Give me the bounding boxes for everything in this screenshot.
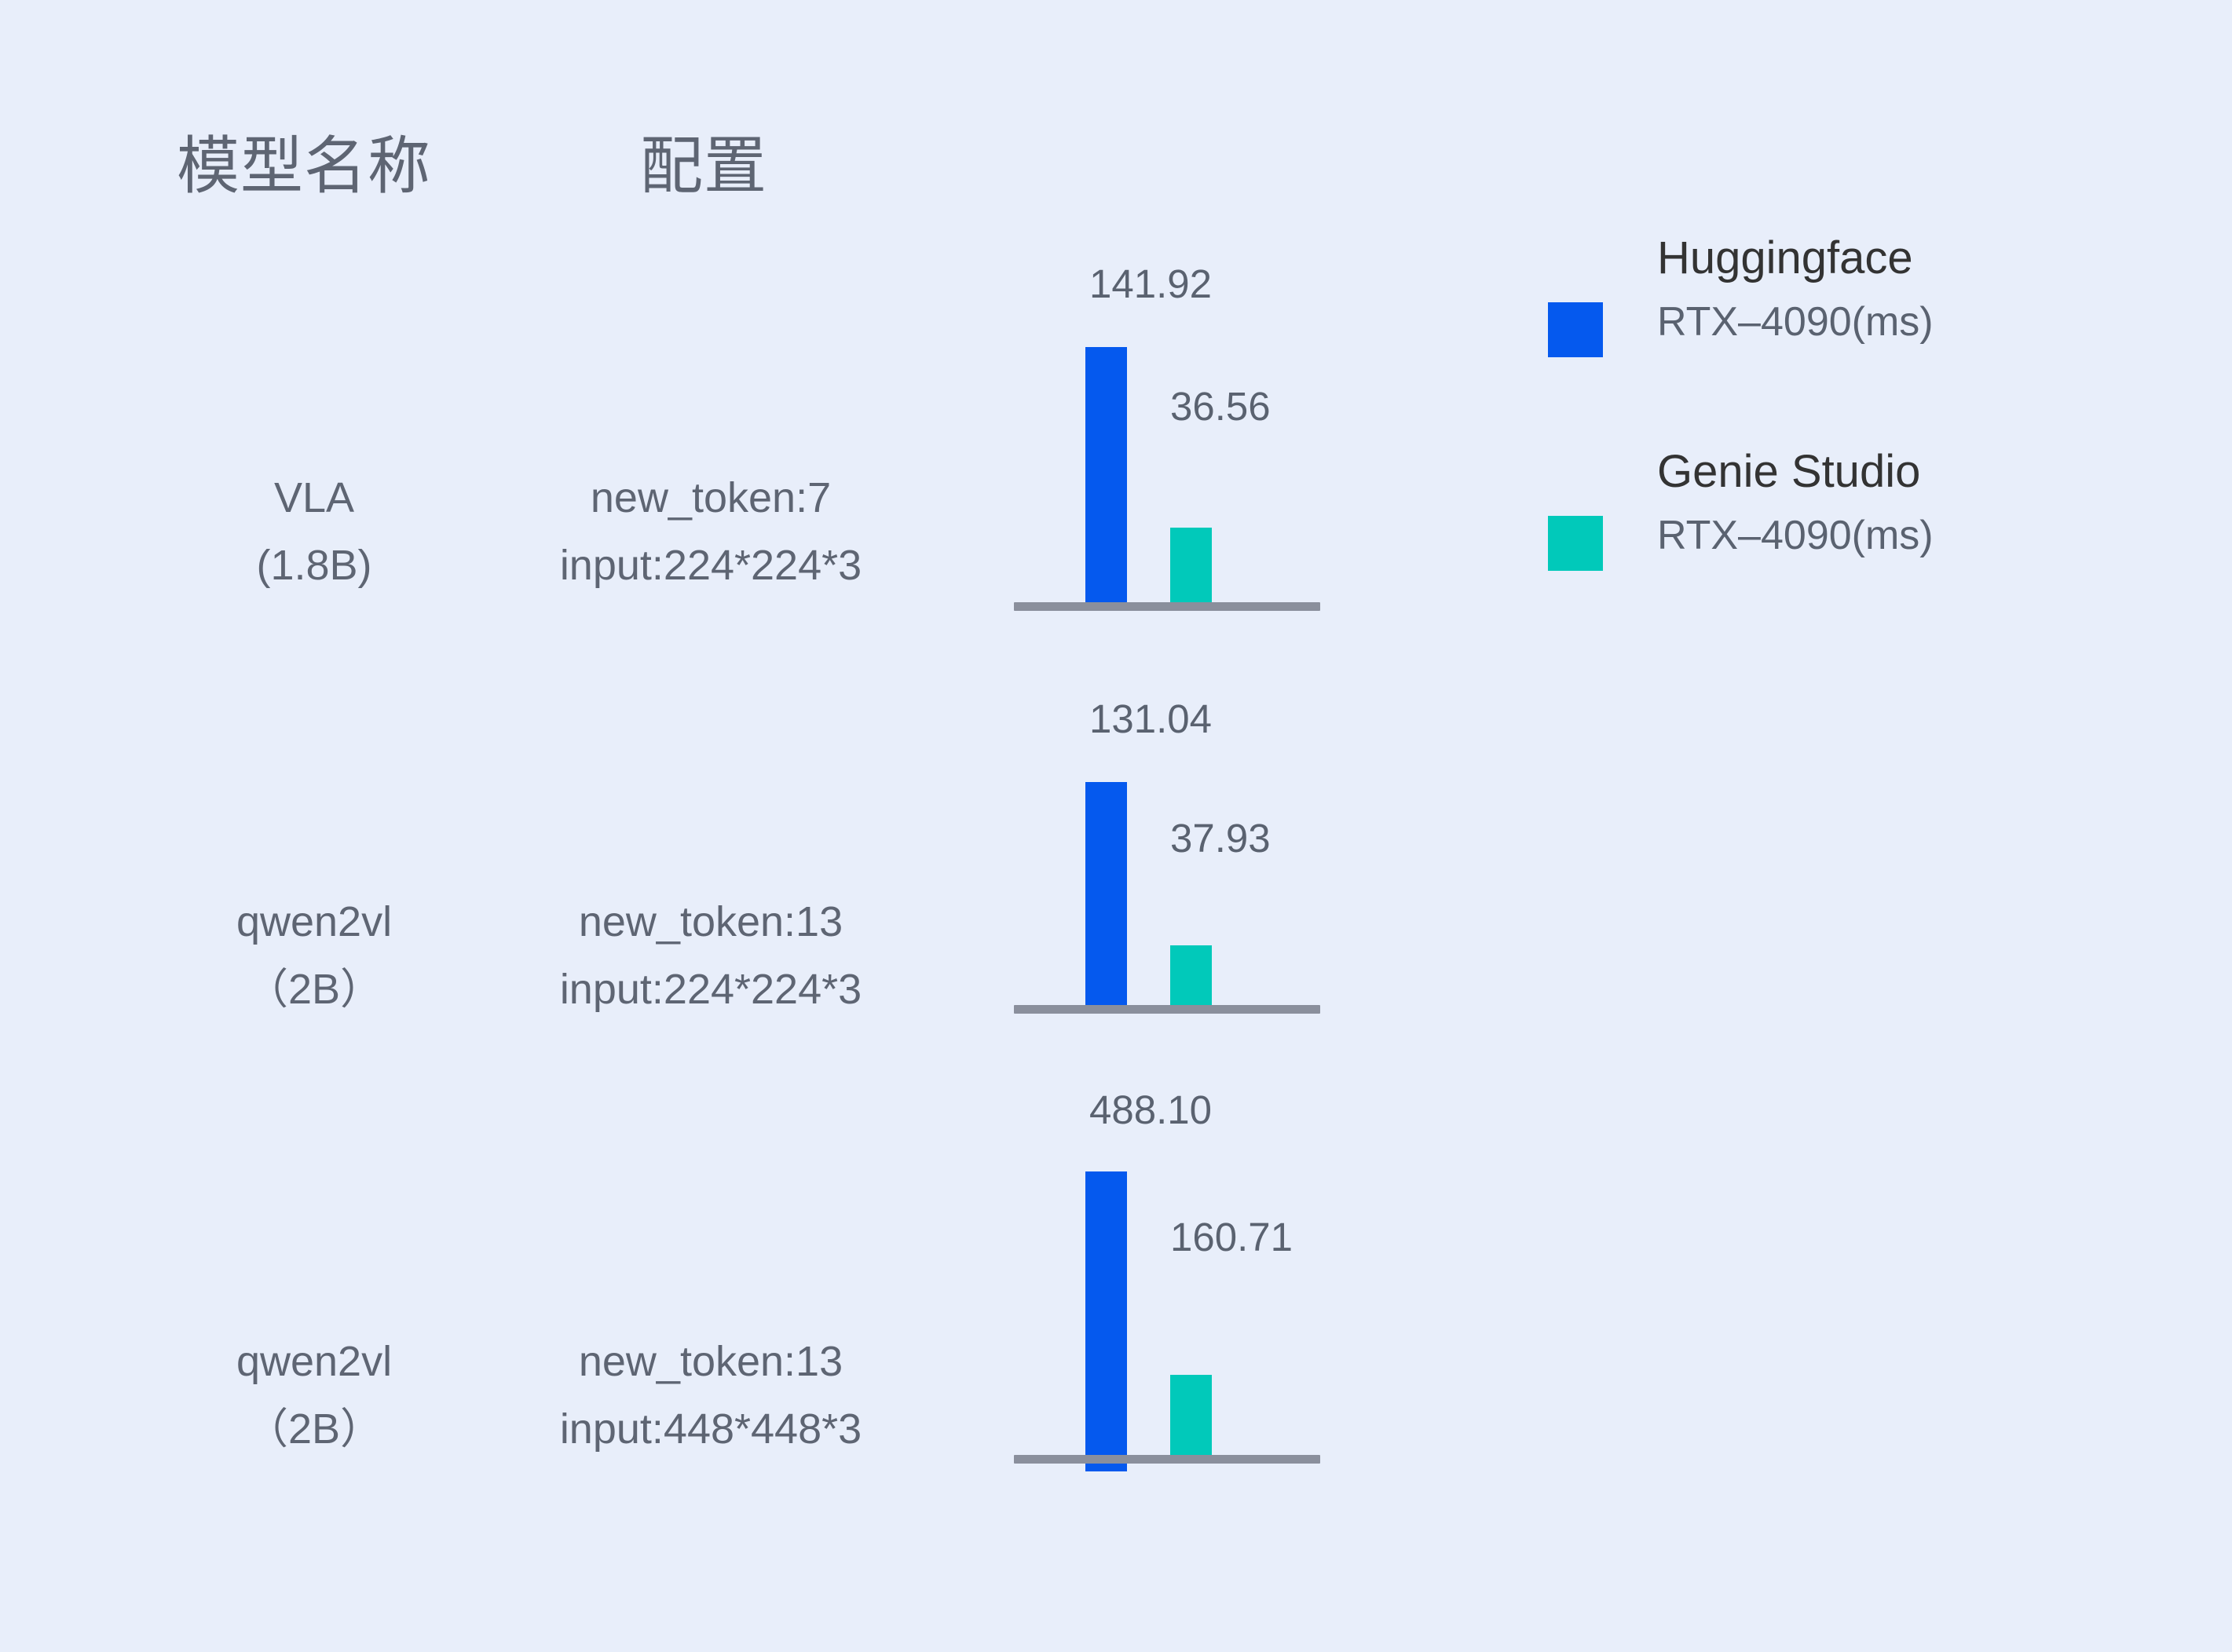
bar-value-label-genie-studio: 37.93 [1170,818,1271,858]
bar-genie-studio[interactable] [1170,1375,1212,1464]
legend-swatch-icon [1548,516,1603,571]
chart-legend: Huggingface RTX–4090(ms) Genie Studio RT… [1543,236,2093,612]
bar-value-label-huggingface: 141.92 [1089,264,1212,304]
row-config-line2: input:224*224*3 [420,956,1001,1023]
bar-genie-studio[interactable] [1170,945,1212,1005]
legend-item-subtitle: RTX–4090(ms) [1657,302,1934,342]
row-baseline [1014,602,1320,611]
row-baseline [1014,1455,1320,1464]
bar-value-label-huggingface: 488.10 [1089,1090,1212,1130]
row-baseline [1014,1005,1320,1014]
row-config-line1: new_token:13 [579,898,843,945]
bar-value-label-huggingface: 131.04 [1089,699,1212,739]
legend-item-title: Huggingface [1657,236,1913,281]
column-header-config: 配置 [640,135,767,198]
chart-canvas: 模型名称 配置 VLA (1.8B) new_token:7 input:224… [0,0,2232,1652]
row-config: new_token:7 input:224*224*3 [420,464,1001,599]
row-model-name-line1: qwen2vl [236,898,392,945]
legend-swatch-icon [1548,302,1603,357]
bar-genie-studio[interactable] [1170,528,1212,602]
bar-group-row: 488.10 160.71 [1014,1084,1320,1476]
legend-item-title: Genie Studio [1657,449,1920,495]
legend-item-subtitle: RTX–4090(ms) [1657,515,1934,556]
bar-huggingface[interactable] [1085,1171,1127,1471]
row-config-line2: input:448*448*3 [420,1395,1001,1463]
row-config-line1: new_token:7 [591,474,831,521]
bar-group-row: 131.04 37.93 [1014,652,1320,1021]
row-model-name-line1: qwen2vl [236,1338,392,1385]
bar-value-label-genie-studio: 160.71 [1170,1217,1293,1257]
bar-huggingface[interactable] [1085,347,1127,602]
row-config-line1: new_token:13 [579,1338,843,1385]
column-header-model-name: 模型名称 [177,135,431,198]
bar-value-label-genie-studio: 36.56 [1170,386,1271,426]
row-config: new_token:13 input:448*448*3 [420,1328,1001,1463]
row-model-name-line1: VLA [274,474,354,521]
row-config: new_token:13 input:224*224*3 [420,888,1001,1023]
bar-huggingface[interactable] [1085,782,1127,1005]
bar-group-row: 141.92 36.56 [1014,236,1320,612]
row-config-line2: input:224*224*3 [420,532,1001,599]
